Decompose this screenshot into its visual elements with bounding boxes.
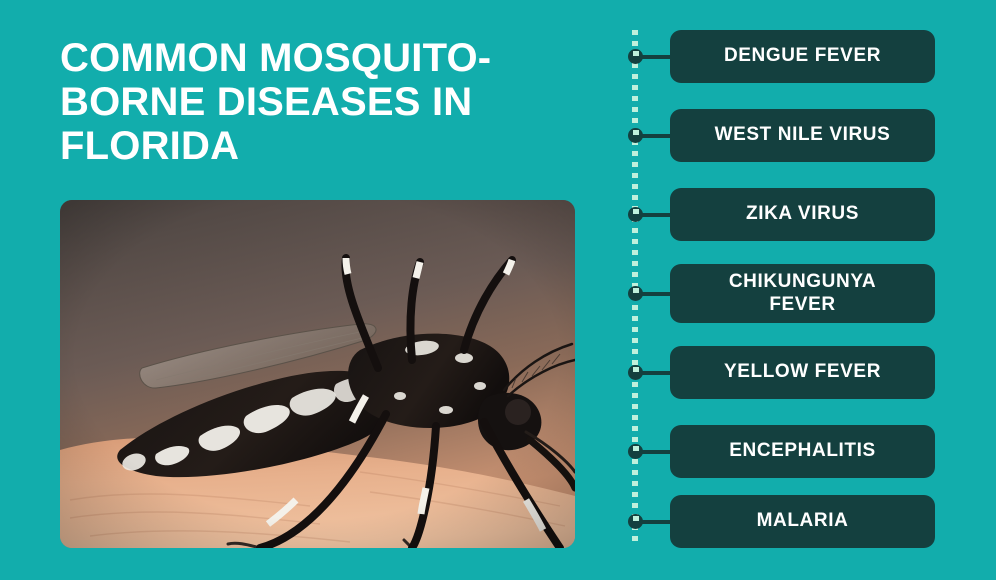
disease-pill-yellow-fever[interactable]: YELLOW FEVER	[670, 346, 935, 399]
disease-pill-west-nile-virus[interactable]: WEST NILE VIRUS	[670, 109, 935, 162]
disease-pill-encephalitis[interactable]: ENCEPHALITIS	[670, 425, 935, 478]
mosquito-photo-illustration	[60, 200, 575, 548]
disease-pill-malaria[interactable]: MALARIA	[670, 495, 935, 548]
disease-timeline: DENGUE FEVER WEST NILE VIRUS ZIKA VIRUS …	[600, 0, 996, 580]
disease-pill-dengue-fever[interactable]: DENGUE FEVER	[670, 30, 935, 83]
disease-pill-zika-virus[interactable]: ZIKA VIRUS	[670, 188, 935, 241]
mosquito-photo	[60, 200, 575, 548]
page-title: COMMON MOSQUITO-BORNE DISEASES IN FLORID…	[60, 36, 590, 168]
disease-pill-chikungunya-fever[interactable]: CHIKUNGUNYA FEVER	[670, 264, 935, 323]
infographic-canvas: COMMON MOSQUITO-BORNE DISEASES IN FLORID…	[0, 0, 996, 580]
